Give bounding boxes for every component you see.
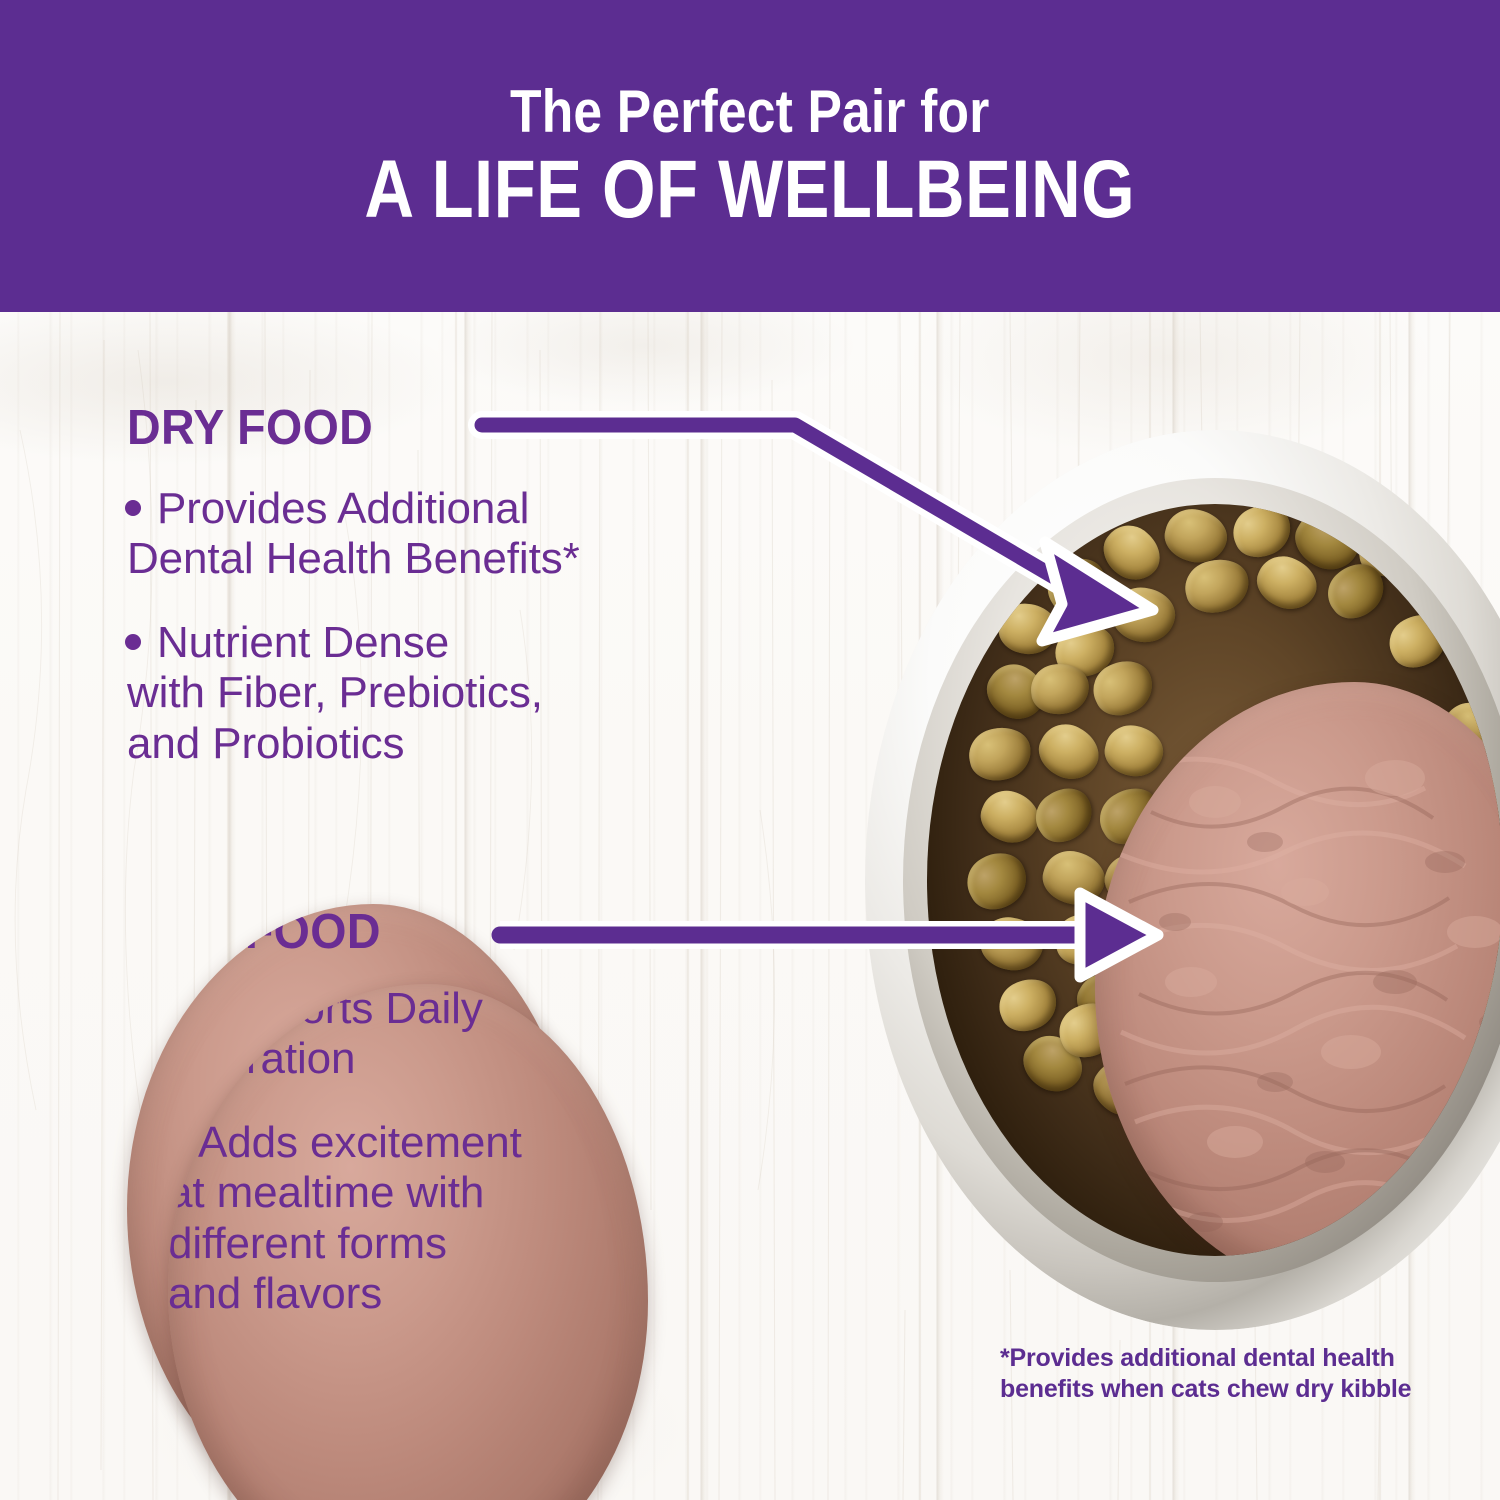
copy-column: DRY FOOD Provides Additional Dental Heal…: [0, 312, 830, 1500]
bowl-interior: [927, 504, 1500, 1256]
food-bowl-photo: [865, 430, 1500, 1330]
bullet-line: Nutrient Dense: [157, 618, 449, 667]
bullet-line: Provides Additional: [157, 484, 529, 533]
footnote-disclaimer: *Provides additional dental health benef…: [1000, 1343, 1430, 1404]
infographic-canvas: The Perfect Pair for A LIFE OF WELLBEING: [0, 0, 1500, 1500]
bowl-shape: [865, 430, 1500, 1330]
bullet-item: Provides Additional Dental Health Benefi…: [127, 484, 787, 584]
bullet-line: Dental Health Benefits*: [127, 534, 580, 583]
header-line-2: A LIFE OF WELLBEING: [365, 149, 1136, 231]
bullet-line: at mealtime with: [168, 1168, 484, 1217]
bullet-line: Adds excitement: [198, 1118, 522, 1167]
bullet-dot-icon: [125, 500, 141, 516]
bullet-line: and Probiotics: [127, 719, 404, 768]
bullet-item: Adds excitement at mealtime with differe…: [168, 1118, 648, 1319]
bullet-dot-icon: [125, 634, 141, 650]
header-banner: The Perfect Pair for A LIFE OF WELLBEING: [0, 0, 1500, 312]
bullet-item: Nutrient Dense with Fiber, Prebiotics, a…: [127, 618, 787, 768]
wet-food-pate: [1095, 682, 1500, 1256]
bullet-list-dry-food: Provides Additional Dental Health Benefi…: [127, 484, 787, 803]
header-line-1: The Perfect Pair for: [510, 81, 989, 142]
bullet-line: different forms: [168, 1219, 447, 1268]
footnote-line-2: benefits when cats chew dry kibble: [1000, 1374, 1430, 1405]
bullet-dot-icon: [168, 1000, 182, 1016]
bullet-line: and flavors: [168, 1269, 382, 1318]
bullet-line: with Fiber, Prebiotics,: [127, 668, 543, 717]
section-heading-dry-food: DRY FOOD: [127, 400, 373, 456]
footnote-line-1: *Provides additional dental health: [1000, 1343, 1430, 1374]
